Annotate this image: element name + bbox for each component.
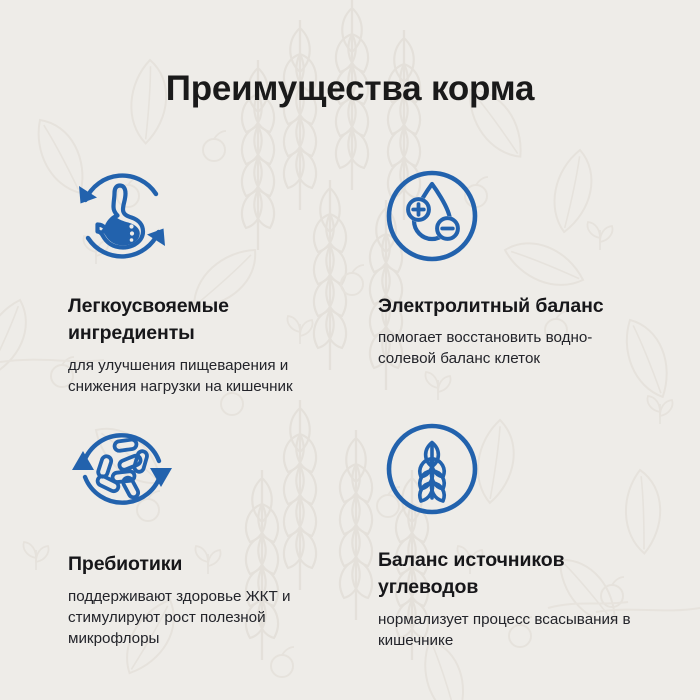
wheat-spike-circle-icon	[378, 415, 486, 523]
benefits-row-top: Легкоусвояемые ингредиенты для улучшения…	[0, 158, 700, 413]
water-droplet-plus-minus-icon	[378, 162, 486, 270]
benefit-title: Баланс источников углеводов	[378, 547, 648, 601]
bacteria-circle-arrows-icon	[68, 415, 176, 523]
benefit-title: Пребиотики	[68, 551, 338, 578]
benefits-page: Преимущества корма	[0, 0, 700, 700]
benefit-description: помогает восстановить водно-солевой бала…	[378, 327, 646, 369]
stomach-refresh-icon	[68, 162, 176, 270]
benefits-row-bottom: Пребиотики поддерживают здоровье ЖКТ и с…	[0, 413, 700, 668]
benefit-card-prebiotics: Пребиотики поддерживают здоровье ЖКТ и с…	[68, 413, 368, 649]
benefit-card-electrolyte-balance: Электролитный баланс помогает восстанови…	[378, 158, 678, 369]
benefit-card-carbohydrate-sources: Баланс источников углеводов нормализует …	[378, 413, 678, 651]
benefit-card-digestible-ingredients: Легкоусвояемые ингредиенты для улучшения…	[68, 158, 368, 397]
benefit-title: Легкоусвояемые ингредиенты	[68, 293, 338, 347]
benefit-description: нормализует процесс всасывания в кишечни…	[378, 609, 646, 651]
page-title: Преимущества корма	[0, 67, 700, 111]
benefit-title: Электролитный баланс	[378, 293, 648, 320]
benefit-description: для улучшения пищеварения и снижения наг…	[68, 355, 336, 397]
benefit-description: поддерживают здоровье ЖКТ и стимулируют …	[68, 586, 336, 649]
benefits-grid: Легкоусвояемые ингредиенты для улучшения…	[0, 158, 700, 668]
